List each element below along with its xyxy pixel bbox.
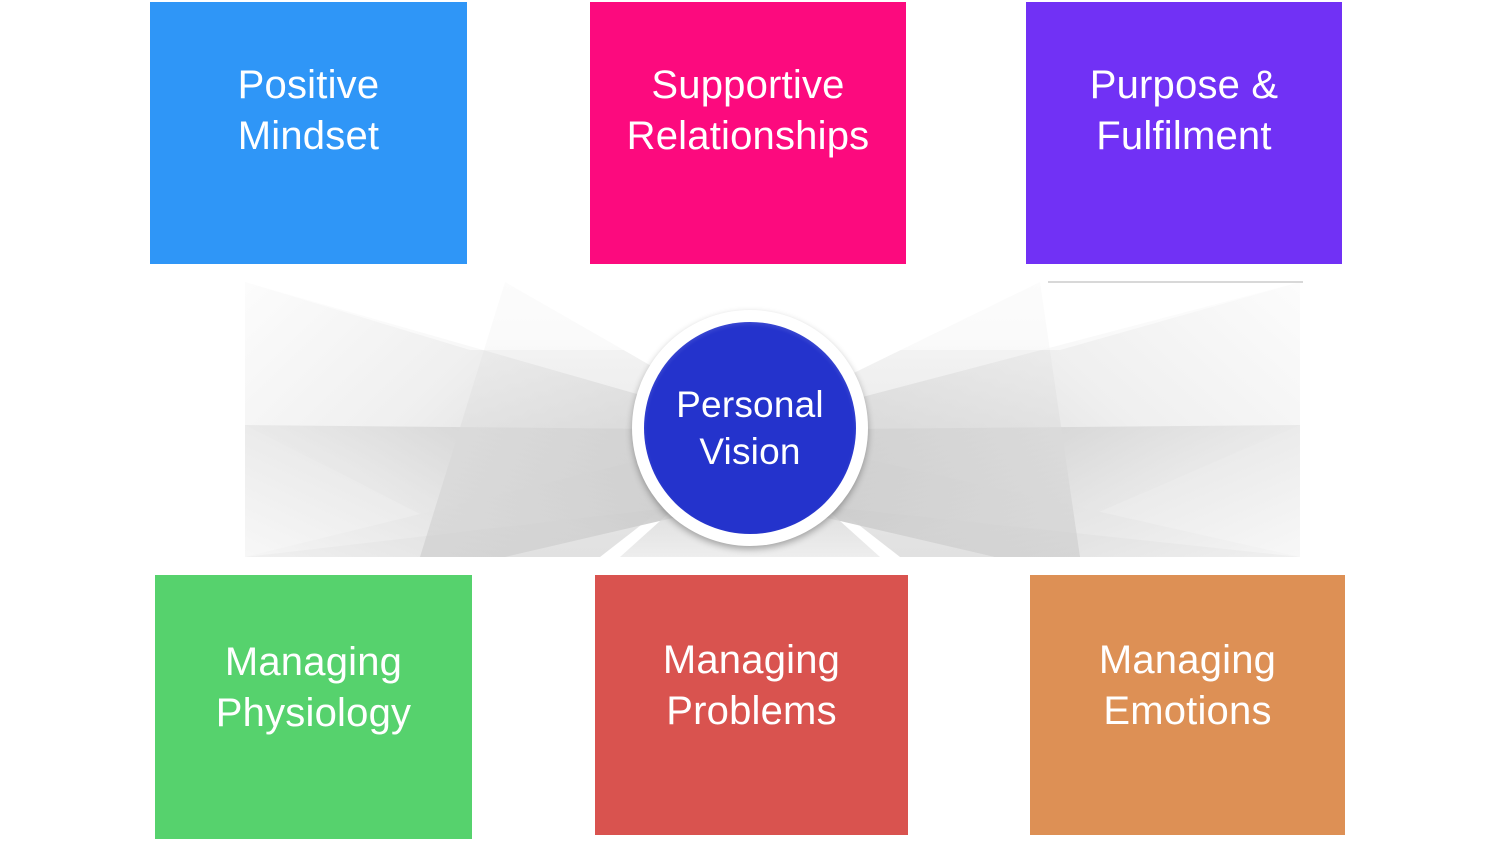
concept-box-purpose-fulfilment[interactable]: Purpose & Fulfilment bbox=[1026, 2, 1342, 264]
arrow-group-left bbox=[245, 282, 1000, 560]
concept-box-label: Managing Emotions bbox=[1099, 635, 1276, 737]
concept-box-managing-problems[interactable]: Managing Problems bbox=[595, 575, 908, 835]
concept-box-supportive-relationships[interactable]: Supportive Relationships bbox=[590, 2, 906, 264]
central-circle-label: Personal Vision bbox=[676, 381, 824, 476]
concept-box-label: Managing Problems bbox=[663, 635, 840, 737]
central-circle[interactable]: Personal Vision bbox=[632, 310, 868, 546]
top-right-rule bbox=[1048, 281, 1303, 283]
concept-box-label: Managing Physiology bbox=[216, 637, 411, 739]
central-circle-inner: Personal Vision bbox=[644, 322, 856, 534]
concept-box-label: Positive Mindset bbox=[238, 60, 380, 162]
concept-box-managing-physiology[interactable]: Managing Physiology bbox=[155, 575, 472, 839]
concept-box-label: Purpose & Fulfilment bbox=[1090, 60, 1279, 162]
concept-box-label: Supportive Relationships bbox=[627, 60, 870, 162]
concept-box-positive-mindset[interactable]: Positive Mindset bbox=[150, 2, 467, 264]
concept-box-managing-emotions[interactable]: Managing Emotions bbox=[1030, 575, 1345, 835]
diagram-canvas: Positive Mindset Supportive Relationship… bbox=[0, 0, 1494, 842]
